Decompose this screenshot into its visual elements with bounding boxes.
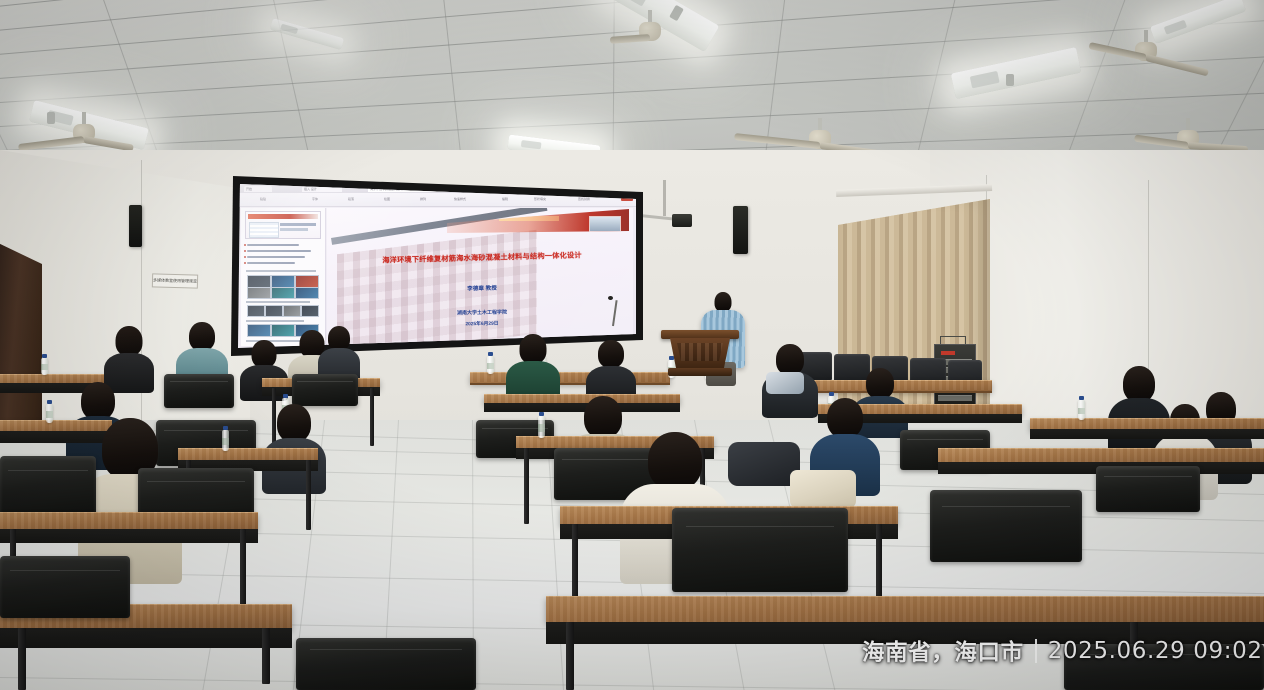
ribbon-item[interactable]: 形状填充 <box>534 197 546 202</box>
audience-member <box>104 326 154 390</box>
podium <box>666 330 734 382</box>
thumbnail-image[interactable] <box>247 287 271 299</box>
presenter-head <box>715 292 732 312</box>
desk <box>546 596 1264 622</box>
audience-member <box>586 340 636 402</box>
ribbon-item[interactable]: 排列 <box>420 197 426 202</box>
water-bottle[interactable] <box>41 358 48 375</box>
water-bottle[interactable] <box>222 430 229 451</box>
watermark: 海南省，海口市 2025.06.29 09:02 <box>862 634 1263 668</box>
desk <box>178 448 318 460</box>
thumbnail-image[interactable] <box>247 305 265 317</box>
ribbon-item[interactable]: 快速样式 <box>454 197 466 202</box>
thumbnail-image[interactable] <box>283 305 301 317</box>
wall-speaker <box>733 206 748 254</box>
audience-member <box>262 404 326 490</box>
projector-mount <box>663 180 666 216</box>
chair[interactable] <box>292 374 358 406</box>
thumbnail-image[interactable] <box>301 305 319 317</box>
slide-thumbnail-pane[interactable] <box>241 208 326 346</box>
front-table <box>470 372 670 382</box>
desk <box>1030 418 1264 429</box>
thumbnail-image[interactable] <box>265 305 283 317</box>
chair[interactable] <box>1096 466 1200 512</box>
slide-canvas[interactable]: 海洋环境下纤维复材筋海水海砂混凝土材料与结构一体化设计 李德章 教授 湖南大学土… <box>327 208 633 346</box>
ribbon-item[interactable]: 粘贴 <box>260 197 266 202</box>
wall-speaker <box>129 205 142 247</box>
water-bottle[interactable] <box>1078 400 1085 420</box>
watermark-separator <box>1035 639 1037 663</box>
jacket-on-chair <box>766 372 804 394</box>
chair[interactable] <box>0 456 96 520</box>
audience-member <box>506 334 560 400</box>
ribbon-item[interactable]: 编辑 <box>502 197 508 202</box>
ribbon-item[interactable]: 段落 <box>348 197 354 202</box>
ribbon-item[interactable]: 字体 <box>312 197 318 202</box>
ribbon-item[interactable]: 查找替换 <box>578 197 590 202</box>
thumbnail-image[interactable] <box>295 287 319 299</box>
tote-bag <box>790 470 856 508</box>
chair[interactable] <box>164 374 234 408</box>
projection-screen[interactable]: 开始 插入 设计 海洋环境下纤维复材筋.pptx 粘贴 字体 段落 绘图 排列 … <box>238 184 636 348</box>
thumbnail-image[interactable] <box>247 324 271 337</box>
thumbnail-image[interactable] <box>271 287 295 299</box>
slide-banner <box>447 209 629 233</box>
water-bottle[interactable] <box>487 356 494 374</box>
chair[interactable] <box>930 490 1082 562</box>
watermark-datetime: 2025.06.29 09:02 <box>1048 638 1263 664</box>
watermark-location: 海南省，海口市 <box>862 635 1024 667</box>
slide-thumbnail[interactable] <box>245 211 321 239</box>
lecture-hall-photo: 多媒体教室使用管理规定 开始 插入 设计 海洋环境下纤维复材筋.pptx 粘贴 … <box>0 0 1264 690</box>
chair[interactable] <box>296 638 476 690</box>
ppt-tab[interactable]: 开始 <box>244 186 272 192</box>
desk <box>0 512 258 529</box>
chair[interactable] <box>672 508 848 592</box>
projector <box>672 214 692 227</box>
wall-sign: 多媒体教室使用管理规定 <box>152 273 198 288</box>
water-bottle[interactable] <box>538 416 545 438</box>
microphone-icon <box>608 296 613 300</box>
chair[interactable] <box>0 556 130 618</box>
ribbon-item[interactable]: 绘图 <box>384 197 390 202</box>
water-bottle[interactable] <box>46 404 53 423</box>
desk <box>938 448 1264 462</box>
